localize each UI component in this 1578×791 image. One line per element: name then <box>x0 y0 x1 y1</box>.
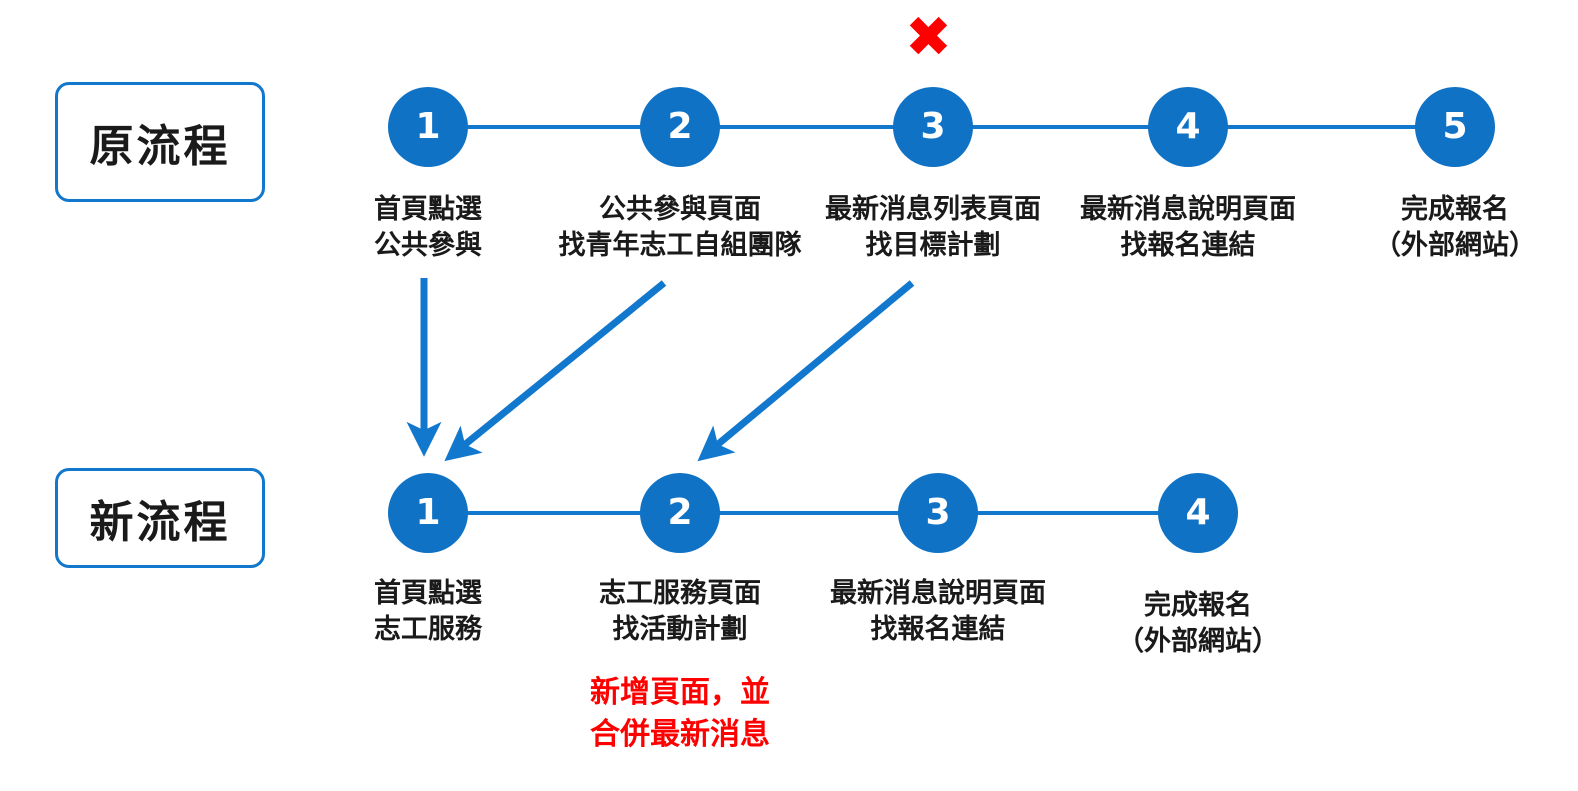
node-original-4-label-line2: 找報名連結 <box>1048 228 1328 264</box>
node-new-1-label: 首頁點選 志工服務 <box>288 576 568 648</box>
node-original-5-number: 5 <box>1442 109 1467 145</box>
node-new-4-label: 完成報名 （外部網站） <box>1058 588 1338 660</box>
node-new-3-label: 最新消息說明頁面 找報名連結 <box>798 576 1078 648</box>
cross-icon: ✖ <box>905 10 952 66</box>
row-label-new-flow-text: 新流程 <box>90 486 231 550</box>
node-original-1-number: 1 <box>415 109 440 145</box>
connector-original-2-3 <box>718 125 895 129</box>
annotation-new-page-note-line1: 新增頁面，並 <box>590 675 770 710</box>
connector-original-4-5 <box>1226 125 1417 129</box>
node-new-2-label-line1: 志工服務頁面 <box>599 578 761 609</box>
connector-new-2-3 <box>718 511 900 515</box>
row-label-original-flow: 原流程 <box>55 82 265 202</box>
annotation-new-page-note: 新增頁面，並 合併最新消息 <box>540 672 820 756</box>
node-original-5-label-line2: （外部網站） <box>1315 228 1578 264</box>
node-original-3[interactable]: 3 <box>893 87 973 167</box>
node-original-4-label: 最新消息說明頁面 找報名連結 <box>1048 192 1328 264</box>
node-original-1[interactable]: 1 <box>388 87 468 167</box>
node-original-5[interactable]: 5 <box>1415 87 1495 167</box>
node-new-3[interactable]: 3 <box>898 473 978 553</box>
node-new-2-label-line2: 找活動計劃 <box>540 612 820 648</box>
node-original-2-number: 2 <box>667 109 692 145</box>
connector-new-1-2 <box>466 511 642 515</box>
node-new-4-label-line2: （外部網站） <box>1058 624 1338 660</box>
node-original-1-label: 首頁點選 公共參與 <box>288 192 568 264</box>
connector-new-3-4 <box>976 511 1160 515</box>
connector-original-1-2 <box>466 125 642 129</box>
node-new-4-number: 4 <box>1185 495 1210 531</box>
node-new-1-label-line1: 首頁點選 <box>374 578 482 609</box>
node-original-1-label-line2: 公共參與 <box>288 228 568 264</box>
node-new-4[interactable]: 4 <box>1158 473 1238 553</box>
node-new-2[interactable]: 2 <box>640 473 720 553</box>
node-new-2-number: 2 <box>667 495 692 531</box>
node-original-1-label-line1: 首頁點選 <box>374 194 482 225</box>
node-new-3-number: 3 <box>925 495 950 531</box>
node-original-5-label-line1: 完成報名 <box>1401 194 1509 225</box>
annotation-new-page-note-line2: 合併最新消息 <box>540 714 820 756</box>
row-label-original-flow-text: 原流程 <box>90 110 231 174</box>
node-original-5-label: 完成報名 （外部網站） <box>1315 192 1578 264</box>
node-new-3-label-line2: 找報名連結 <box>798 612 1078 648</box>
node-new-4-label-line1: 完成報名 <box>1144 590 1252 621</box>
node-original-2[interactable]: 2 <box>640 87 720 167</box>
node-original-3-label: 最新消息列表頁面 找目標計劃 <box>793 192 1073 264</box>
node-original-4[interactable]: 4 <box>1148 87 1228 167</box>
node-new-3-label-line1: 最新消息說明頁面 <box>830 578 1046 609</box>
node-original-2-label-line1: 公共參與頁面 <box>599 194 761 225</box>
arrow-original3-to-new2 <box>705 283 912 455</box>
node-original-3-label-line2: 找目標計劃 <box>793 228 1073 264</box>
connector-original-3-4 <box>971 125 1150 129</box>
node-original-2-label-line2: 找青年志工自組團隊 <box>540 228 820 264</box>
node-new-1-label-line2: 志工服務 <box>288 612 568 648</box>
node-original-4-label-line1: 最新消息說明頁面 <box>1080 194 1296 225</box>
node-original-3-number: 3 <box>920 109 945 145</box>
node-new-1-number: 1 <box>415 495 440 531</box>
node-new-1[interactable]: 1 <box>388 473 468 553</box>
flow-comparison-diagram: 原流程 新流程 ✖ 1 首頁點選 公共參與 2 公共參與頁面 找青年志工自組團隊 <box>0 0 1578 791</box>
node-original-2-label: 公共參與頁面 找青年志工自組團隊 <box>540 192 820 264</box>
row-label-new-flow: 新流程 <box>55 468 265 568</box>
node-original-4-number: 4 <box>1175 109 1200 145</box>
node-new-2-label: 志工服務頁面 找活動計劃 <box>540 576 820 648</box>
arrow-original2-to-new1 <box>452 283 664 455</box>
node-original-3-label-line1: 最新消息列表頁面 <box>825 194 1041 225</box>
